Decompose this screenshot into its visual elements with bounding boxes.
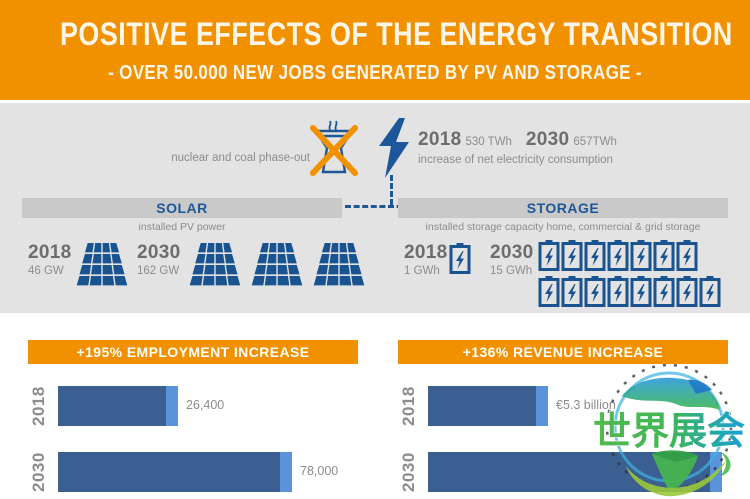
nuclear-cooling-tower-icon bbox=[303, 118, 365, 180]
chart-revenue-year-2030: 2030 bbox=[398, 446, 420, 498]
battery-icon bbox=[538, 240, 560, 271]
chart-employment-year-2030: 2030 bbox=[28, 446, 50, 498]
battery-icon bbox=[676, 240, 698, 271]
consumption-caption: increase of net electricity consumption bbox=[418, 154, 613, 166]
category-header-storage: STORAGE bbox=[398, 198, 728, 218]
chart-revenue-bar-2030 bbox=[428, 452, 710, 492]
chart-employment-row-2018: 2018 26,400 bbox=[28, 380, 358, 432]
chart-employment-bar-2018 bbox=[58, 386, 166, 426]
chart-revenue-value-2018: €5.3 billion bbox=[556, 398, 616, 412]
battery-icon bbox=[538, 276, 560, 307]
solar-2030-year: 2030 bbox=[137, 243, 180, 263]
solar-2030-icons bbox=[189, 241, 375, 294]
chart-employment-value-2018: 26,400 bbox=[186, 398, 224, 412]
battery-icon bbox=[630, 276, 652, 307]
solar-panel-icon bbox=[251, 241, 303, 289]
page-subtitle: - OVER 50.000 NEW JOBS GENERATED BY PV A… bbox=[56, 62, 694, 85]
connector-vertical bbox=[390, 175, 393, 205]
solar-2018-label: 2018 46 GW bbox=[28, 243, 71, 279]
header-banner: POSITIVE EFFECTS OF THE ENERGY TRANSITIO… bbox=[0, 0, 750, 100]
chart-revenue-title: +136% REVENUE INCREASE bbox=[398, 340, 728, 364]
battery-icon bbox=[676, 276, 698, 307]
chart-employment-value-2030: 78,000 bbox=[300, 464, 338, 478]
storage-2030-amount: 15 GWh bbox=[490, 263, 533, 279]
battery-icon bbox=[630, 240, 652, 271]
battery-icon bbox=[449, 243, 471, 274]
battery-icon bbox=[584, 240, 606, 271]
solar-panel-icon bbox=[76, 241, 128, 289]
storage-2030-icons bbox=[538, 240, 728, 312]
chart-employment-row-2030: 2030 78,000 bbox=[28, 446, 358, 498]
storage-2030-label: 2030 15 GWh bbox=[490, 243, 533, 279]
lightning-bolt-icon bbox=[375, 118, 415, 178]
battery-icon bbox=[653, 276, 675, 307]
category-header-solar: SOLAR bbox=[22, 198, 342, 218]
solar-2018-year: 2018 bbox=[28, 243, 71, 263]
battery-icon bbox=[561, 276, 583, 307]
battery-icon bbox=[607, 276, 629, 307]
storage-2018-amount: 1 GWh bbox=[404, 263, 447, 279]
chart-revenue: +136% REVENUE INCREASE 2018 €5.3 billion… bbox=[398, 340, 728, 498]
chart-employment-bar-2030 bbox=[58, 452, 280, 492]
chart-revenue-bar-2018 bbox=[428, 386, 536, 426]
category-subtitle-storage: installed storage capacity home, commerc… bbox=[398, 221, 728, 233]
solar-2018-icons bbox=[76, 241, 132, 294]
chart-employment-bartip-2018 bbox=[166, 386, 178, 426]
consumption-year-2018: 2018 bbox=[418, 129, 461, 150]
chart-employment: +195% EMPLOYMENT INCREASE 2018 26,400 20… bbox=[28, 340, 358, 498]
phaseout-label: nuclear and coal phase-out bbox=[160, 152, 310, 164]
consumption-values: 2018530 TWh2030657TWh bbox=[418, 129, 617, 151]
storage-2030-year: 2030 bbox=[490, 243, 533, 263]
chart-revenue-row-2018: 2018 €5.3 billion bbox=[398, 380, 728, 432]
consumption-value-2030: 657TWh bbox=[573, 136, 616, 148]
category-title-solar: SOLAR bbox=[22, 200, 342, 216]
battery-icon bbox=[653, 240, 675, 271]
solar-panel-icon bbox=[313, 241, 365, 289]
page-title: POSITIVE EFFECTS OF THE ENERGY TRANSITIO… bbox=[60, 16, 690, 53]
battery-icon bbox=[699, 276, 721, 307]
storage-2018-label: 2018 1 GWh bbox=[404, 243, 447, 279]
storage-2018-icons bbox=[449, 243, 471, 279]
battery-icon bbox=[561, 240, 583, 271]
solar-panel-icon bbox=[189, 241, 241, 289]
category-subtitle-solar: installed PV power bbox=[22, 221, 342, 233]
solar-2030-amount: 162 GW bbox=[137, 263, 180, 279]
battery-icon bbox=[584, 276, 606, 307]
chart-revenue-bartip-2030 bbox=[710, 452, 722, 492]
chart-employment-bartip-2030 bbox=[280, 452, 292, 492]
consumption-year-2030: 2030 bbox=[526, 129, 569, 150]
solar-2018-amount: 46 GW bbox=[28, 263, 71, 279]
chart-employment-year-2018: 2018 bbox=[28, 380, 50, 432]
storage-2018-year: 2018 bbox=[404, 243, 447, 263]
solar-2030-label: 2030 162 GW bbox=[137, 243, 180, 279]
chart-revenue-year-2018: 2018 bbox=[398, 380, 420, 432]
chart-revenue-bartip-2018 bbox=[536, 386, 548, 426]
consumption-value-2018: 530 TWh bbox=[465, 136, 511, 148]
category-title-storage: STORAGE bbox=[398, 200, 728, 216]
chart-revenue-row-2030: 2030 bbox=[398, 446, 728, 498]
battery-icon bbox=[607, 240, 629, 271]
chart-employment-title: +195% EMPLOYMENT INCREASE bbox=[28, 340, 358, 364]
